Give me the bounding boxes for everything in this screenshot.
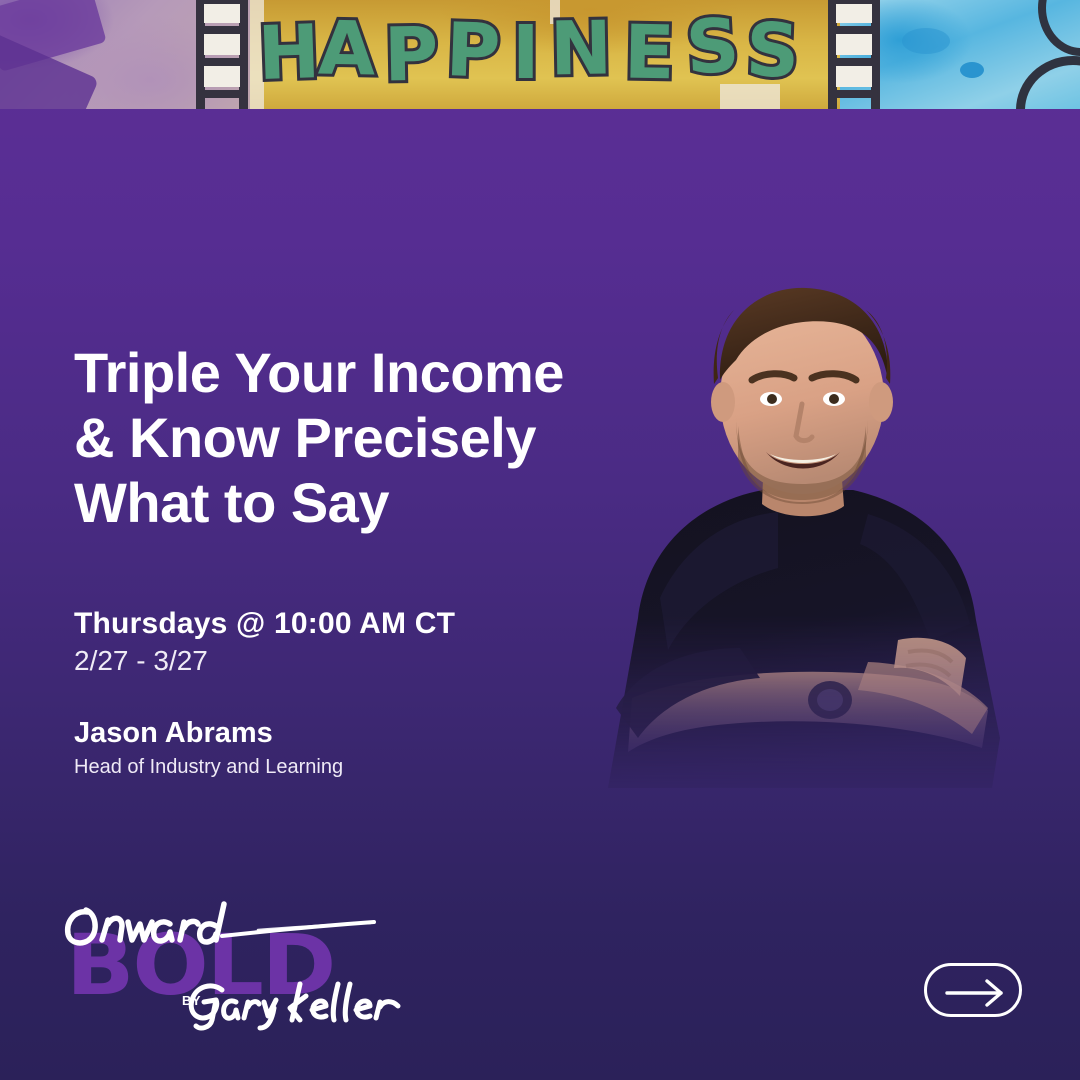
speaker-role: Head of Industry and Learning (74, 752, 343, 782)
arrow-right-icon (943, 977, 1009, 1009)
speaker-name: Jason Abrams (74, 714, 343, 752)
mural-letter: A (317, 12, 376, 87)
logo-onward-script (58, 896, 398, 956)
schedule-time: Thursdays @ 10:00 AM CT (74, 605, 455, 643)
mural-letter: P (445, 13, 502, 89)
headline-line-1: Triple Your Income (74, 340, 634, 405)
logo-gary-keller-script (178, 976, 408, 1032)
mural-letter: S (684, 9, 741, 86)
next-arrow-button[interactable] (924, 963, 1022, 1017)
mural-letter: S (745, 13, 801, 89)
mural-letter: E (623, 16, 675, 91)
schedule-block: Thursdays @ 10:00 AM CT 2/27 - 3/27 (74, 605, 455, 679)
mural-photo-strip: H A P P I N E S S (0, 0, 1080, 109)
mural-letter: H (257, 15, 321, 91)
speaker-portrait (568, 268, 1038, 828)
mural-happiness-lettering: H A P P I N E S S (250, 6, 840, 106)
headline-line-2: & Know Precisely (74, 405, 634, 470)
onward-bold-logo: BOLD BY (58, 898, 358, 1023)
page-title: Triple Your Income & Know Precisely What… (74, 340, 634, 535)
schedule-dates: 2/27 - 3/27 (74, 643, 455, 679)
headline-line-3: What to Say (74, 470, 634, 535)
speaker-block: Jason Abrams Head of Industry and Learni… (74, 714, 343, 782)
mural-letter: P (383, 18, 439, 93)
promo-slide: H A P P I N E S S (0, 0, 1080, 1080)
mural-ladder-left (196, 0, 248, 109)
mural-letter: I (512, 16, 540, 90)
mural-letter: N (549, 11, 612, 86)
